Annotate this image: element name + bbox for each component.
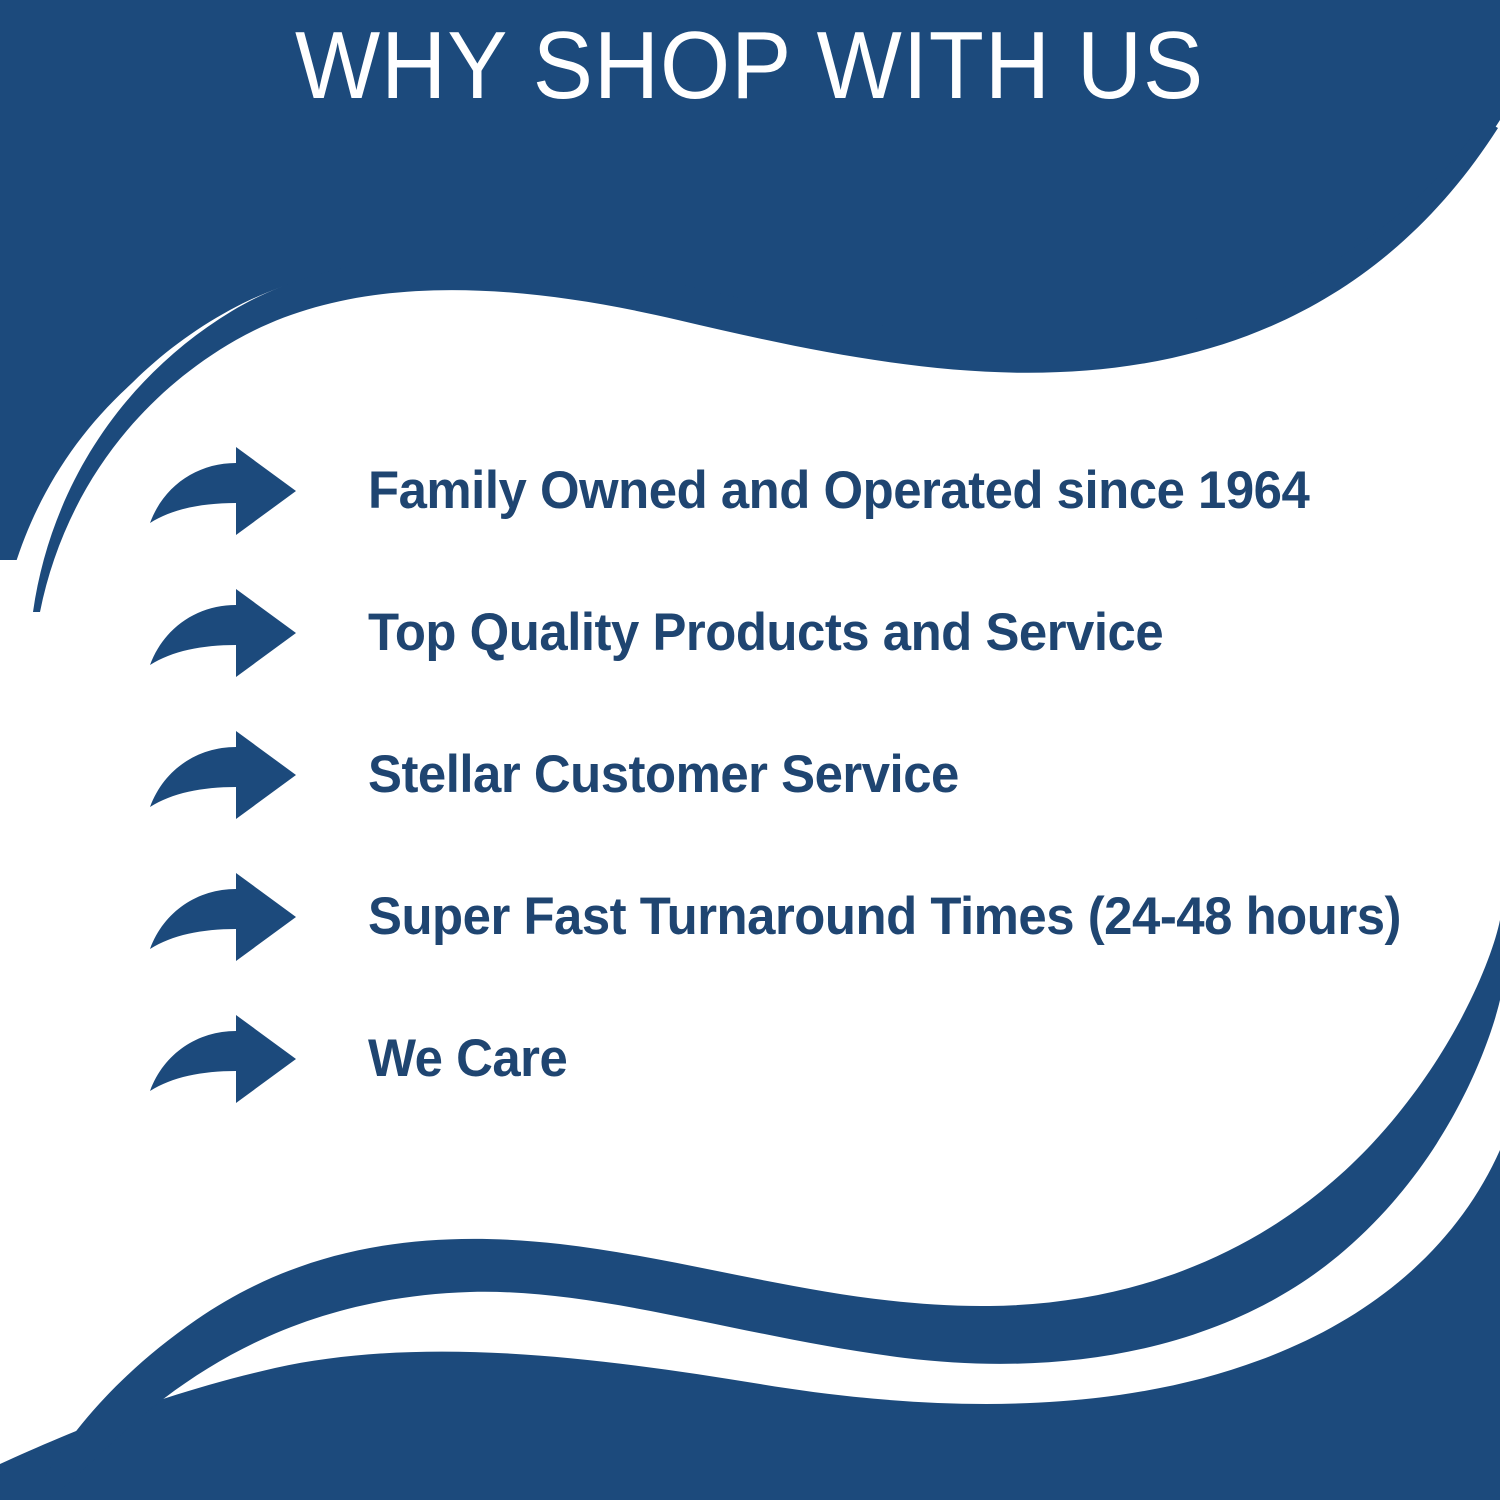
- page-title: WHY SHOP WITH US: [295, 18, 1204, 114]
- list-item-label: Stellar Customer Service: [368, 747, 959, 803]
- benefits-list: Family Owned and Operated since 1964 Top…: [0, 420, 1500, 1130]
- list-item: We Care: [0, 988, 1500, 1130]
- list-item-label: Family Owned and Operated since 1964: [368, 463, 1309, 519]
- blue-wave-bottom: [0, 1150, 1500, 1500]
- curved-arrow-right-icon: [150, 445, 298, 537]
- list-item: Top Quality Products and Service: [0, 562, 1500, 704]
- promo-graphic: ESS WHY SHOP WITH US Family Owned and Op…: [0, 0, 1500, 1500]
- curved-arrow-right-icon: [150, 729, 298, 821]
- curved-arrow-right-icon: [150, 1013, 298, 1105]
- curved-arrow-right-icon: [150, 871, 298, 963]
- list-item: Super Fast Turnaround Times (24-48 hours…: [0, 846, 1500, 988]
- list-item-label: We Care: [368, 1031, 567, 1087]
- list-item: Stellar Customer Service: [0, 704, 1500, 846]
- list-item: Family Owned and Operated since 1964: [0, 420, 1500, 562]
- header: WHY SHOP WITH US: [0, 0, 1500, 150]
- list-item-label: Super Fast Turnaround Times (24-48 hours…: [368, 889, 1401, 945]
- list-item-label: Top Quality Products and Service: [368, 605, 1163, 661]
- curved-arrow-right-icon: [150, 587, 298, 679]
